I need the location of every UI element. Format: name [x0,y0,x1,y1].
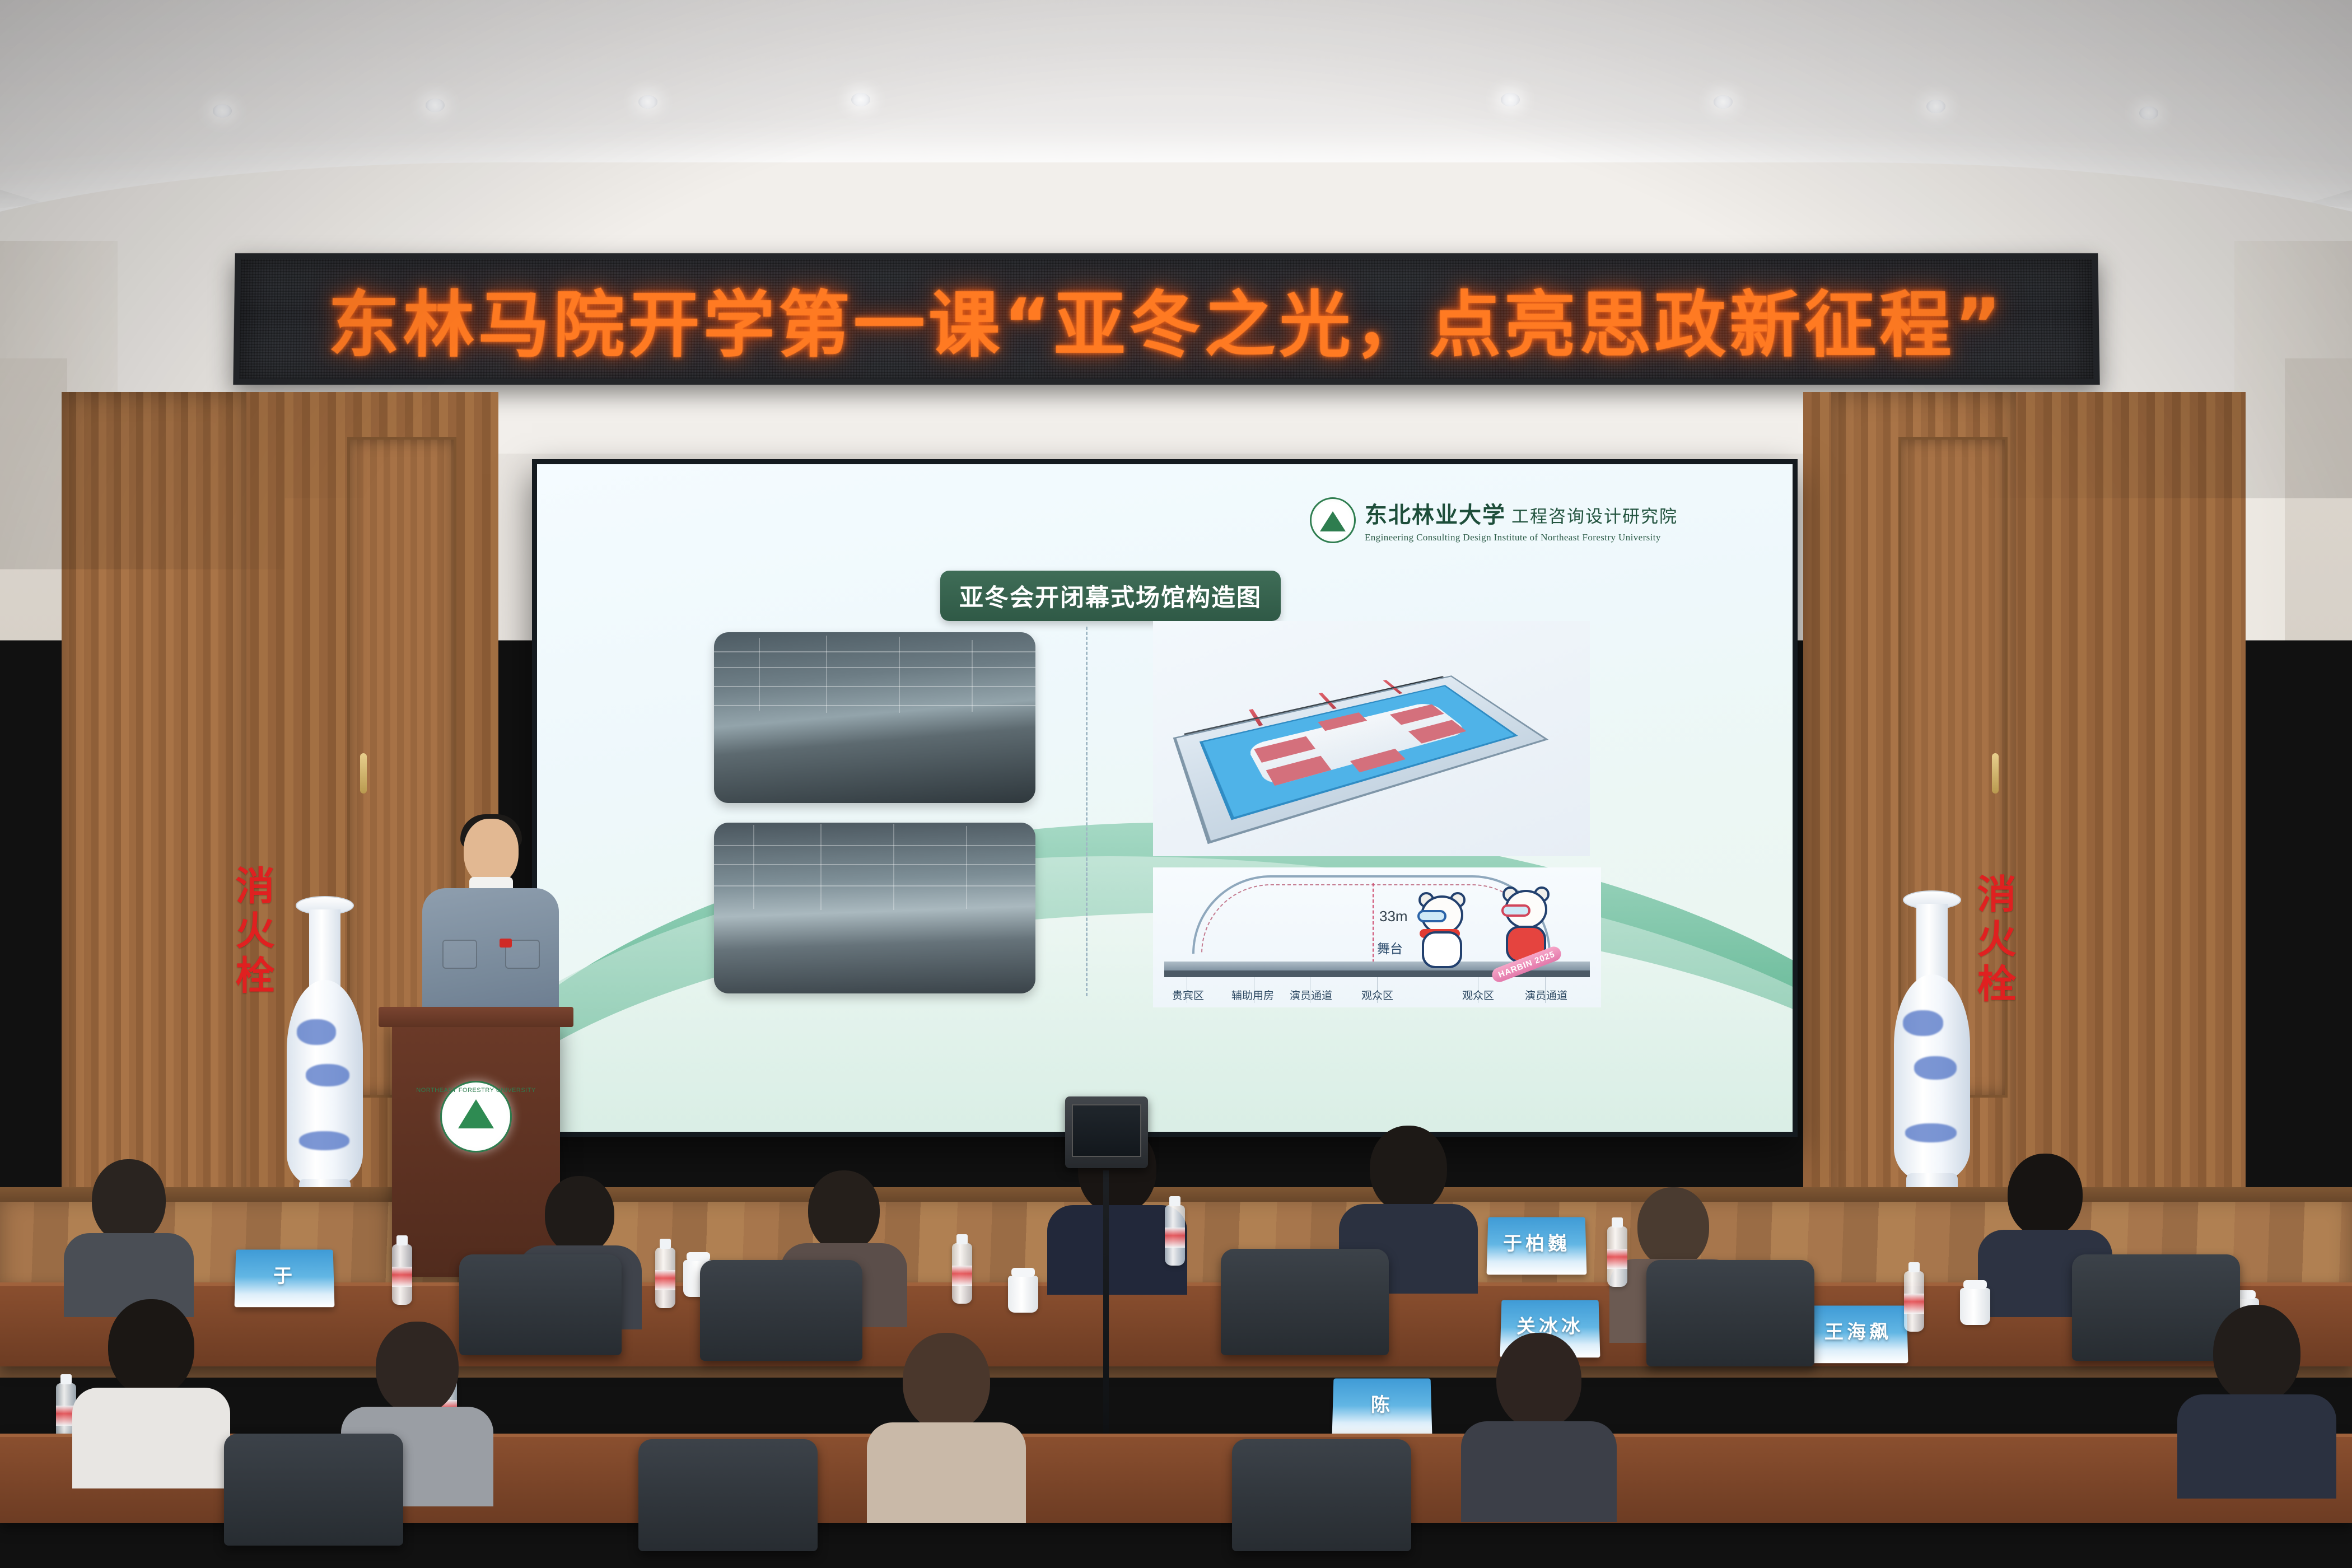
height-dimension-line [1373,883,1374,963]
placard-name: 于 [273,1261,296,1287]
zone-label: 辅助用房 [1231,987,1274,1002]
slide-org-name-en: Engineering Consulting Design Institute … [1365,532,1678,543]
led-banner: 东林马院开学第一课“亚冬之光，点亮思政新征程” [233,253,2099,385]
venue-photo-2 [714,823,1035,993]
placard-name: 于柏巍 [1503,1228,1571,1255]
wall-speaker-left [16,739,56,857]
porcelain-vase-left [280,896,370,1221]
university-emblem-icon: NORTHEAST FORESTRY UNIVERSITY [440,1081,512,1152]
podium-emblem-text: NORTHEAST FORESTRY UNIVERSITY [416,1087,536,1094]
zone-label: 贵宾区 [1172,987,1204,1002]
wall-speaker-right [2296,739,2336,857]
slide-content: 东北林业大学 工程咨询设计研究院 Engineering Consulting … [537,464,1793,1132]
name-placard: 王海飙 [1808,1305,1908,1363]
downlight-icon [1501,93,1520,106]
door-handle-icon[interactable] [360,753,367,794]
tea-mug [1008,1276,1038,1313]
arena-3d-render [1153,621,1590,856]
audience-person [2184,1305,2330,1490]
placard-name: 陈 [1371,1389,1393,1416]
podium-top [379,1007,573,1027]
water-bottle [952,1243,972,1304]
name-placard: 于 [235,1249,335,1307]
section-roof-dashed [1201,884,1542,954]
placard-name: 王海飙 [1824,1317,1892,1343]
audience-person [874,1333,1019,1512]
audience-chair[interactable] [1646,1260,1814,1366]
slide-title: 亚冬会开闭幕式场馆构造图 [940,571,1281,621]
wood-column-left [62,392,246,1221]
downlight-icon [1926,100,1945,113]
fire-hydrant-sign-left: 消火栓 [224,865,281,1000]
water-bottle [392,1244,412,1305]
height-dimension-label: 33m [1379,908,1408,925]
zone-label: 观众区 [1361,987,1393,1002]
slide-divider [1086,627,1088,996]
audience-chair[interactable] [1926,1439,2111,1551]
water-bottle [1607,1226,1627,1287]
slide-org-dept: 工程咨询设计研究院 [1511,502,1678,528]
tea-mug [1960,1288,1990,1325]
audience-chair[interactable] [224,1434,403,1546]
name-placard: 于柏巍 [1487,1217,1587,1275]
name-placard: 陈 [1332,1378,1432,1436]
camera-body[interactable] [1065,1096,1148,1168]
porcelain-vase-right [1887,890,1977,1215]
downlight-icon [2139,106,2158,120]
audience-chair[interactable] [638,1439,818,1551]
downlight-icon [213,104,232,118]
slide-org-name: 东北林业大学 [1365,497,1506,529]
downlight-icon [1714,95,1733,109]
water-bottle [1165,1205,1185,1266]
water-bottle [655,1248,675,1308]
party-emblem-pin-icon [500,939,512,948]
nini-mascot-icon: HARBIN 2025 [1495,890,1557,974]
audience-person [78,1299,224,1478]
camera-screen [1072,1104,1141,1157]
lecture-hall-scene: 东林马院开学第一课“亚冬之光，点亮思政新征程” 消火栓 消火栓 东北林业大学 工… [0,0,2352,1568]
stage-area-label: 舞台 [1377,938,1403,957]
speaker-head [464,819,519,885]
audience-chair[interactable] [700,1260,862,1361]
audience-chair[interactable] [1221,1249,1389,1355]
slide-org-logo: 东北林业大学 工程咨询设计研究院 Engineering Consulting … [1310,497,1678,543]
downlight-icon [426,99,445,112]
door-handle-icon[interactable] [1992,753,1999,794]
audience-chair[interactable] [1232,1439,1411,1551]
audience-person [1467,1333,1611,1512]
zone-label: 演员通道 [1290,987,1332,1002]
projection-screen: 东北林业大学 工程咨询设计研究院 Engineering Consulting … [532,459,1798,1137]
audience-person [67,1159,190,1305]
zone-label: 演员通道 [1525,987,1567,1002]
binbin-mascot-icon [1411,895,1473,979]
downlight-icon [851,93,870,106]
led-banner-text: 东林马院开学第一课“亚冬之光，点亮思政新征程” [328,267,2006,371]
water-bottle [1904,1271,1924,1332]
venue-photo-1 [714,632,1035,803]
university-crest-icon [1310,497,1356,543]
downlight-icon [638,95,657,109]
zone-label: 观众区 [1462,987,1494,1002]
